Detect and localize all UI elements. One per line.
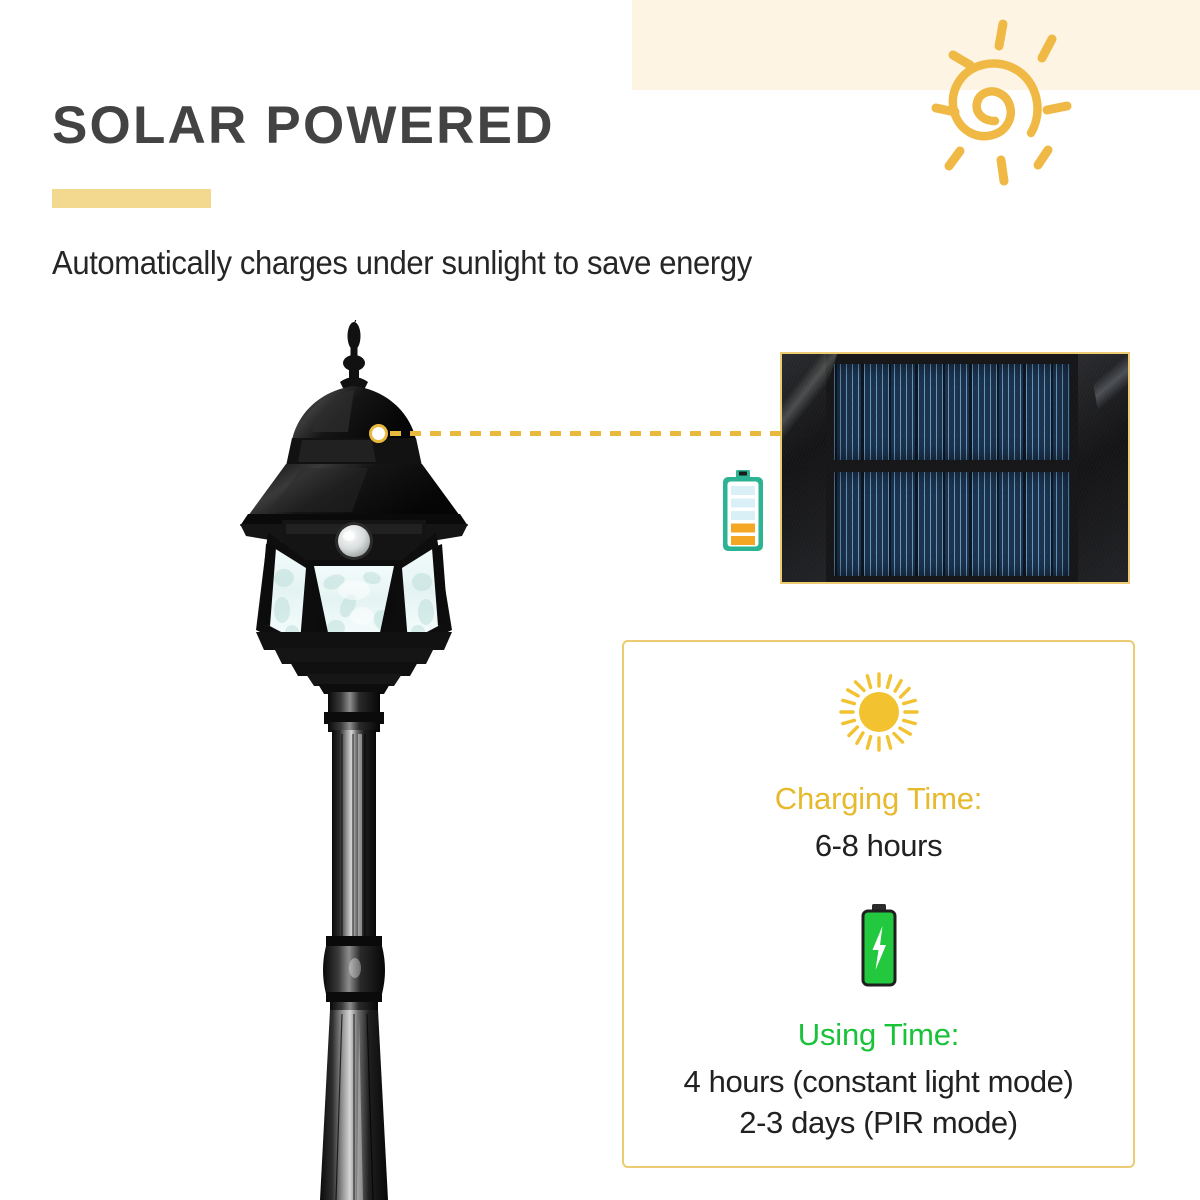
solar-cell-row-bottom (834, 472, 1070, 576)
pir-sensor-dome (335, 522, 373, 560)
charging-time-value: 6-8 hours (624, 825, 1133, 866)
title-accent-bar (52, 189, 211, 208)
panel-frame-left (782, 354, 826, 582)
page-title: SOLAR POWERED (52, 94, 555, 158)
specs-card: Charging Time: 6-8 hours Using Time: 4 h… (622, 640, 1135, 1168)
solar-panel-closeup (780, 352, 1130, 584)
solar-lamp-post (222, 320, 512, 1200)
charging-battery-icon (720, 470, 766, 554)
charging-time-label: Charging Time: (624, 779, 1133, 819)
callout-dot (369, 424, 388, 443)
infographic-page: SOLAR POWERED Automatically charges unde… (0, 0, 1200, 1200)
solar-panel-cells (826, 354, 1078, 582)
using-time-value-line1: 4 hours (constant light mode) (624, 1061, 1133, 1102)
solar-cell-row-top (834, 364, 1070, 460)
battery-bolt-icon (624, 902, 1133, 999)
using-time-value-line2: 2-3 days (PIR mode) (624, 1102, 1133, 1143)
panel-frame-right (1078, 354, 1128, 582)
page-subtitle: Automatically charges under sunlight to … (52, 241, 752, 285)
dashed-connector-line (390, 431, 782, 436)
charging-time-block: Charging Time: 6-8 hours (624, 666, 1133, 866)
using-time-label: Using Time: (624, 1015, 1133, 1055)
using-time-block: Using Time: 4 hours (constant light mode… (624, 902, 1133, 1143)
sun-icon (624, 666, 1133, 763)
hand-drawn-sun-icon (900, 8, 1090, 198)
